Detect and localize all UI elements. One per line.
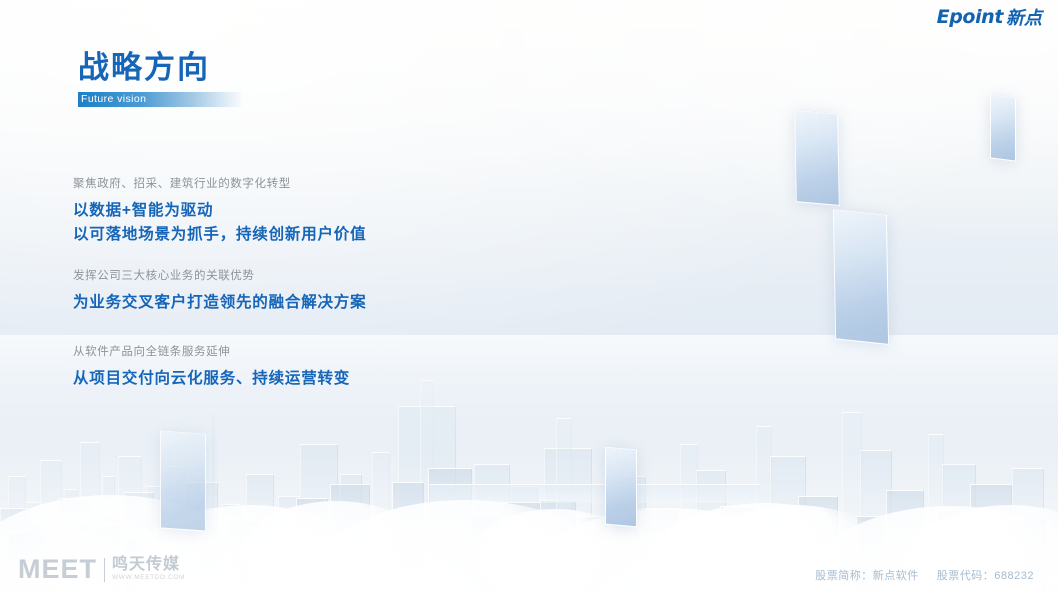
page-title-chinese: 战略方向 <box>78 50 243 86</box>
page-title-english-bar: Future vision <box>78 92 243 107</box>
block-1-line-2: 以可落地场景为抓手，持续创新用户价值 <box>73 223 366 247</box>
logo-chinese-name: 新点 <box>1006 9 1042 27</box>
stock-code: 股票代码：688232 <box>937 567 1034 583</box>
glass-panel-small-left <box>794 110 840 206</box>
content-block-3: 从软件产品向全链条服务延伸 从项目交付向云化服务、持续运营转变 <box>73 344 350 391</box>
watermark-divider <box>104 558 105 582</box>
epoint-logo: Epoint 新点 <box>937 8 1042 27</box>
content-block-2: 发挥公司三大核心业务的关联优势 为业务交叉客户打造领先的融合解决方案 <box>73 268 366 315</box>
glass-panel-city <box>605 447 637 528</box>
slide-canvas: Epoint 新点 战略方向 Future vision 聚焦政府、招采、建筑行… <box>0 0 1058 595</box>
stock-name: 股票简称：新点软件 <box>815 567 919 583</box>
watermark-chinese-name: 鸣天传媒 <box>112 557 185 573</box>
page-title-english: Future vision <box>81 92 146 107</box>
glass-panel-small-right <box>990 94 1016 161</box>
stock-info: 股票简称：新点软件 股票代码：688232 <box>815 567 1034 583</box>
glass-panel-city-left <box>160 430 206 531</box>
logo-wordmark: Epoint <box>937 8 1003 27</box>
glass-panel-large <box>833 209 889 345</box>
watermark-chinese-group: 鸣天传媒 WWW.MEETDO.COM <box>112 557 185 582</box>
block-2-line-1: 为业务交叉客户打造领先的融合解决方案 <box>73 291 366 315</box>
producer-watermark: MEET 鸣天传媒 WWW.MEETDO.COM <box>18 556 185 583</box>
page-title: 战略方向 Future vision <box>78 50 243 107</box>
watermark-meet-text: MEET <box>18 556 97 583</box>
content-block-1: 聚焦政府、招采、建筑行业的数字化转型 以数据+智能为驱动 以可落地场景为抓手，持… <box>73 176 366 246</box>
block-1-subtitle: 聚焦政府、招采、建筑行业的数字化转型 <box>73 176 366 193</box>
watermark-url: WWW.MEETDO.COM <box>112 575 185 582</box>
block-3-line-1: 从项目交付向云化服务、持续运营转变 <box>73 367 350 391</box>
block-3-subtitle: 从软件产品向全链条服务延伸 <box>73 344 350 361</box>
block-1-line-1: 以数据+智能为驱动 <box>73 199 366 223</box>
block-2-subtitle: 发挥公司三大核心业务的关联优势 <box>73 268 366 285</box>
